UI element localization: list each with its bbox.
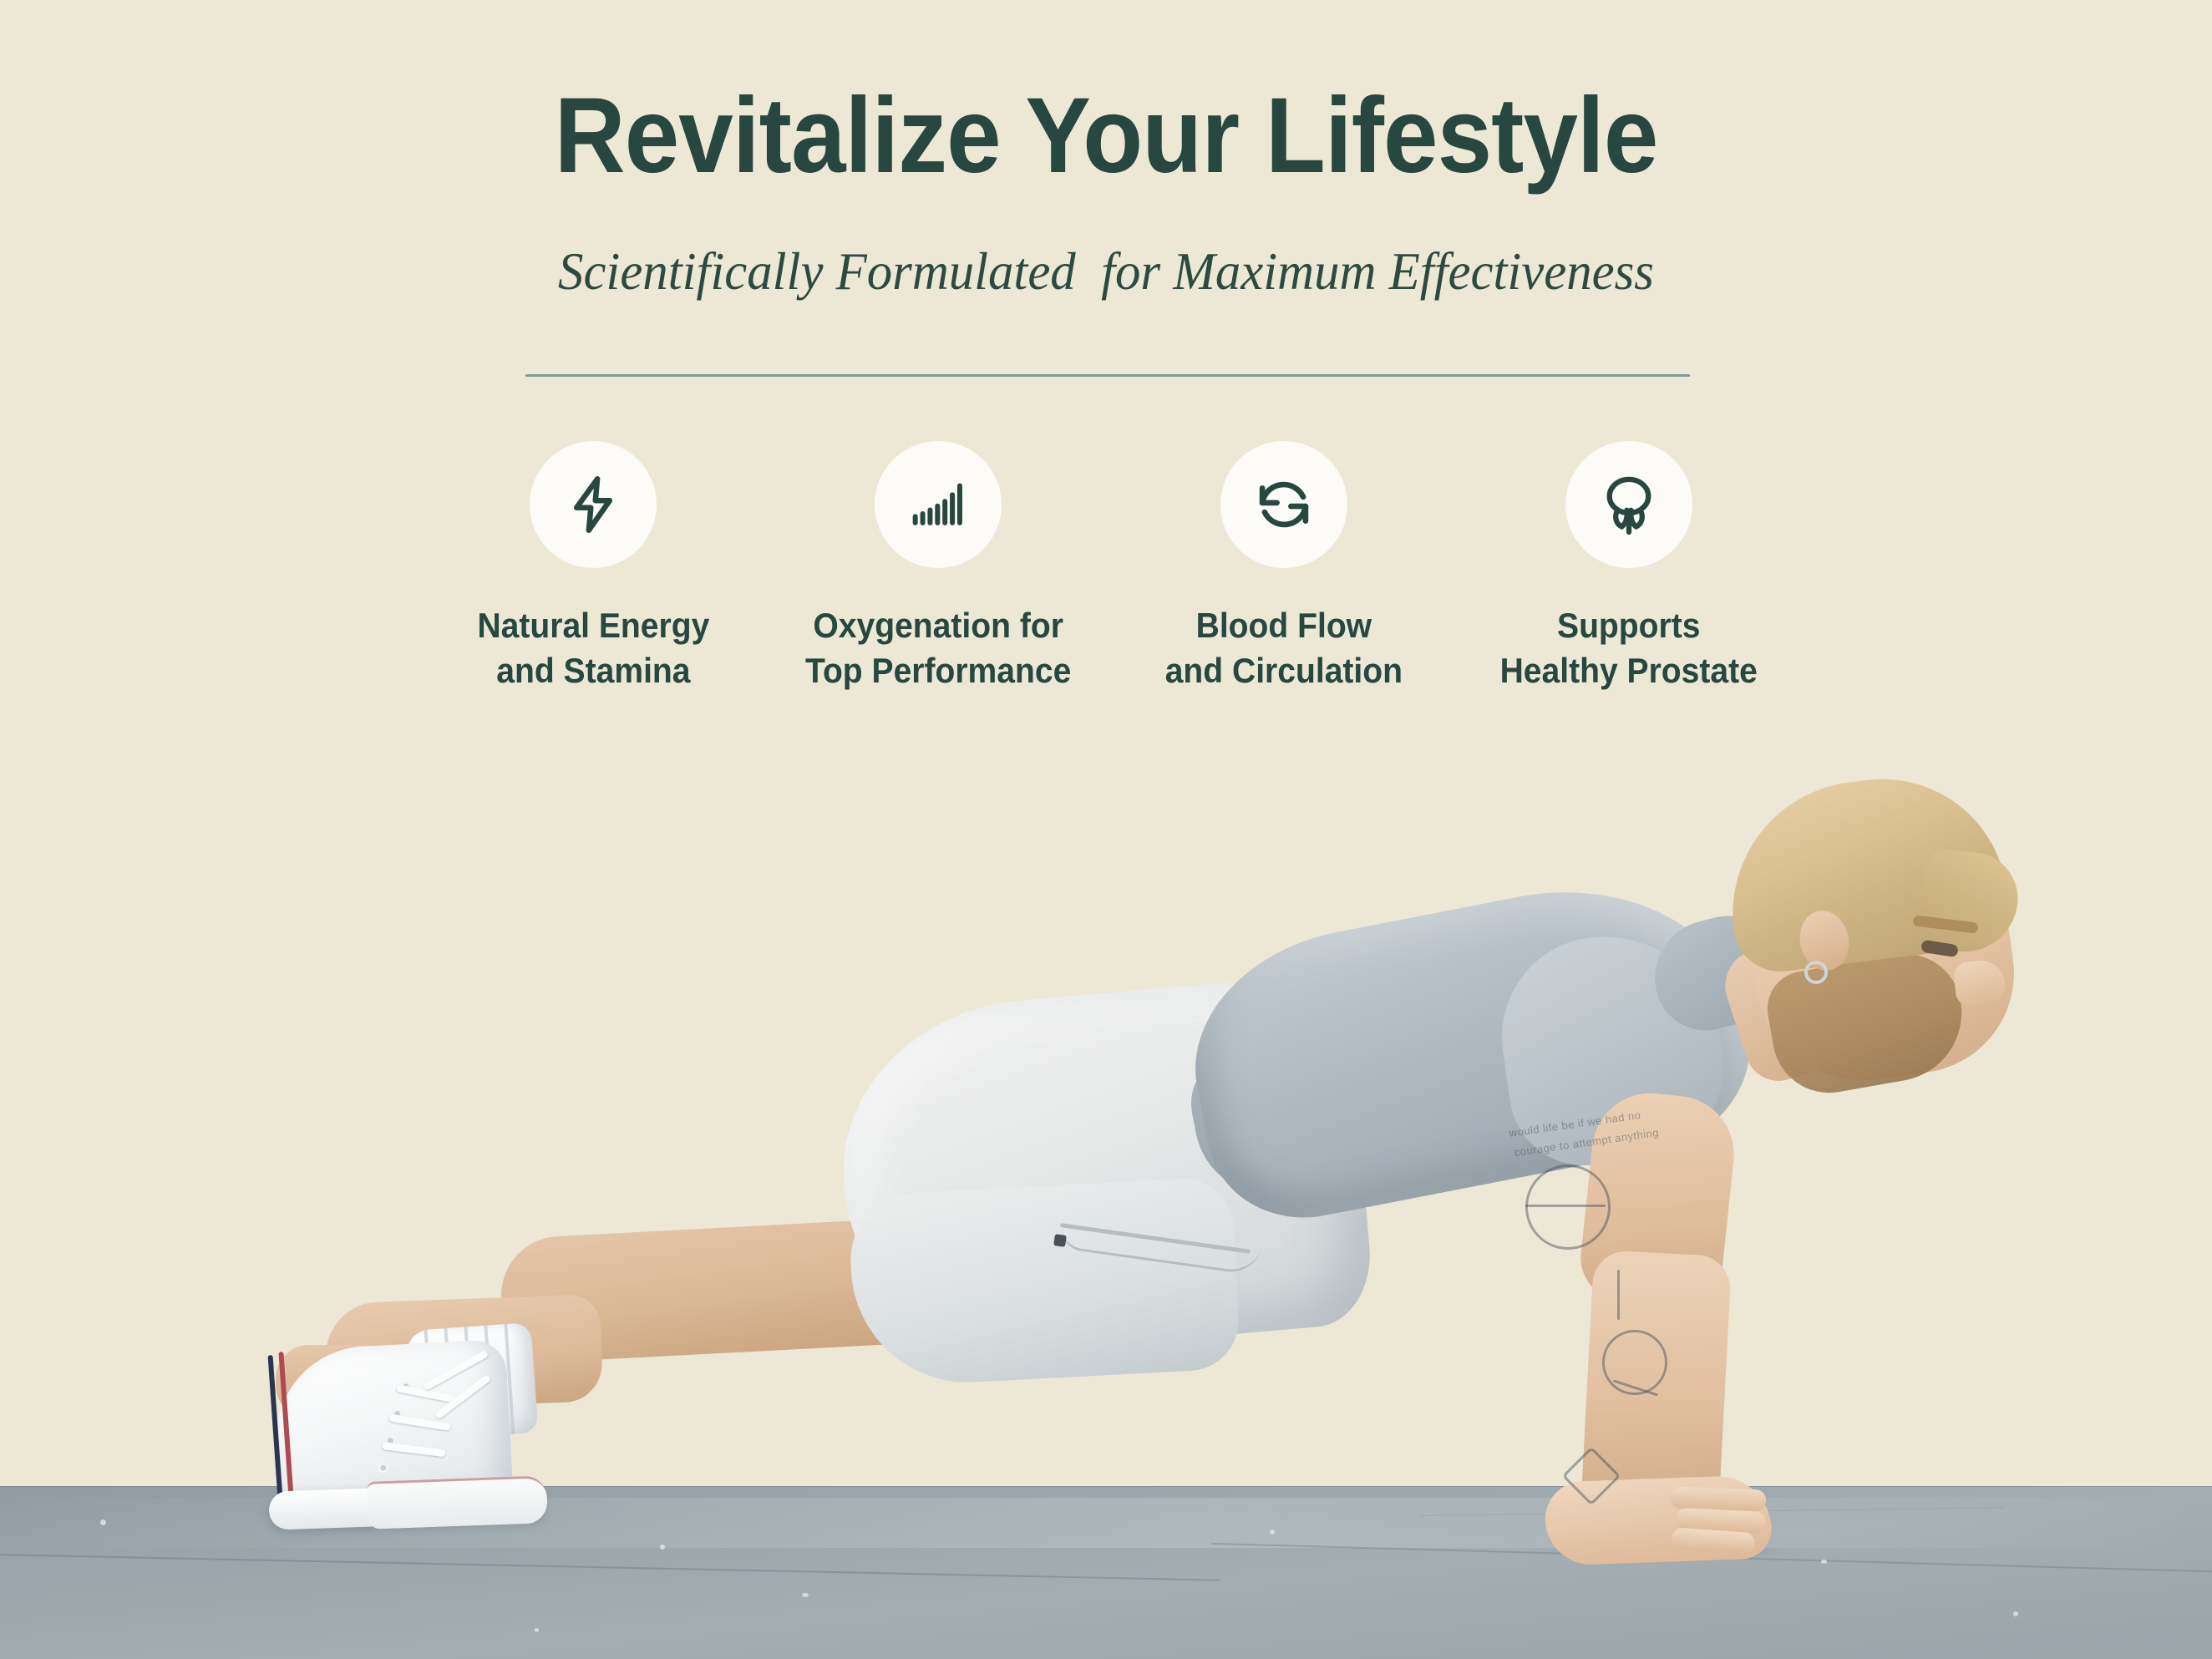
shirt-collar — [1643, 906, 1791, 1041]
floor-joint-line — [0, 1553, 1220, 1580]
benefit-label: Blood Flow and Circulation — [1164, 603, 1402, 693]
lightning-bolt-icon — [559, 470, 627, 539]
refresh-cycle-icon — [1249, 469, 1319, 540]
hair — [1717, 765, 2013, 977]
shorts-zipper — [1060, 1223, 1251, 1254]
arm-tattoo-line — [1613, 1379, 1658, 1396]
signal-bars-icon — [904, 470, 972, 539]
floor-sheen — [0, 1498, 2212, 1548]
shirt-hem — [1183, 1024, 1416, 1207]
sock — [406, 1322, 539, 1441]
head — [1733, 785, 2027, 1094]
arm-tattoo-text: would life be if we had no — [1509, 1109, 1642, 1139]
shorts — [829, 972, 1376, 1367]
icon-badge — [875, 441, 1002, 568]
benefit-label: Supports Healthy Prostate — [1500, 603, 1758, 693]
benefit-blood-flow: Blood Flow and Circulation — [1125, 441, 1443, 693]
page-title: Revitalize Your Lifestyle — [89, 80, 2123, 192]
shorts-pocket — [1059, 1215, 1262, 1276]
t-shirt — [1174, 859, 1768, 1235]
ankle — [276, 1345, 393, 1418]
neck — [1716, 924, 1876, 1090]
beard — [1762, 945, 1973, 1102]
arm-tattoo-text: courage to attempt anything — [1514, 1126, 1660, 1159]
benefit-prostate: Supports Healthy Prostate — [1470, 441, 1788, 693]
upper-arm — [1576, 1088, 1739, 1310]
arm-tattoo-line — [1617, 1270, 1620, 1320]
shirt-sleeve — [1489, 921, 1735, 1175]
icon-badge — [1565, 441, 1692, 568]
thigh — [498, 1216, 938, 1364]
floor-seam — [0, 1486, 2212, 1487]
eye — [1920, 940, 1959, 958]
nose — [1952, 958, 2007, 1007]
benefit-label: Natural Energy and Stamina — [477, 603, 709, 693]
promo-poster: would life be if we had no courage to at… — [0, 0, 2212, 1659]
arm-tattoo-line — [1525, 1205, 1606, 1207]
icon-badge — [1220, 441, 1347, 568]
page-subtitle: Scientifically Formulated for Maximum Ef… — [55, 242, 2157, 301]
arm-tattoo-circle — [1602, 1330, 1667, 1395]
hair-fringe — [1916, 847, 2022, 956]
header-divider — [525, 374, 1690, 377]
calf — [324, 1294, 603, 1410]
benefits-row: Natural Energy and Stamina Oxygenation — [434, 441, 1788, 693]
earring — [1804, 961, 1828, 984]
benefit-natural-energy: Natural Energy and Stamina — [434, 441, 752, 693]
eyebrow — [1912, 915, 1978, 933]
benefit-label: Oxygenation for Top Performance — [805, 603, 1071, 693]
arm-tattoo-spiral — [1525, 1164, 1611, 1250]
prostate-anatomy-icon — [1593, 469, 1665, 540]
shorts-leg — [847, 1176, 1240, 1388]
floor-surface — [0, 1486, 2212, 1659]
icon-badge — [530, 441, 657, 568]
forearm — [1580, 1250, 1733, 1524]
benefit-oxygenation: Oxygenation for Top Performance — [779, 441, 1097, 693]
shorts-zipper-pull — [1053, 1234, 1067, 1247]
ear — [1794, 906, 1854, 975]
